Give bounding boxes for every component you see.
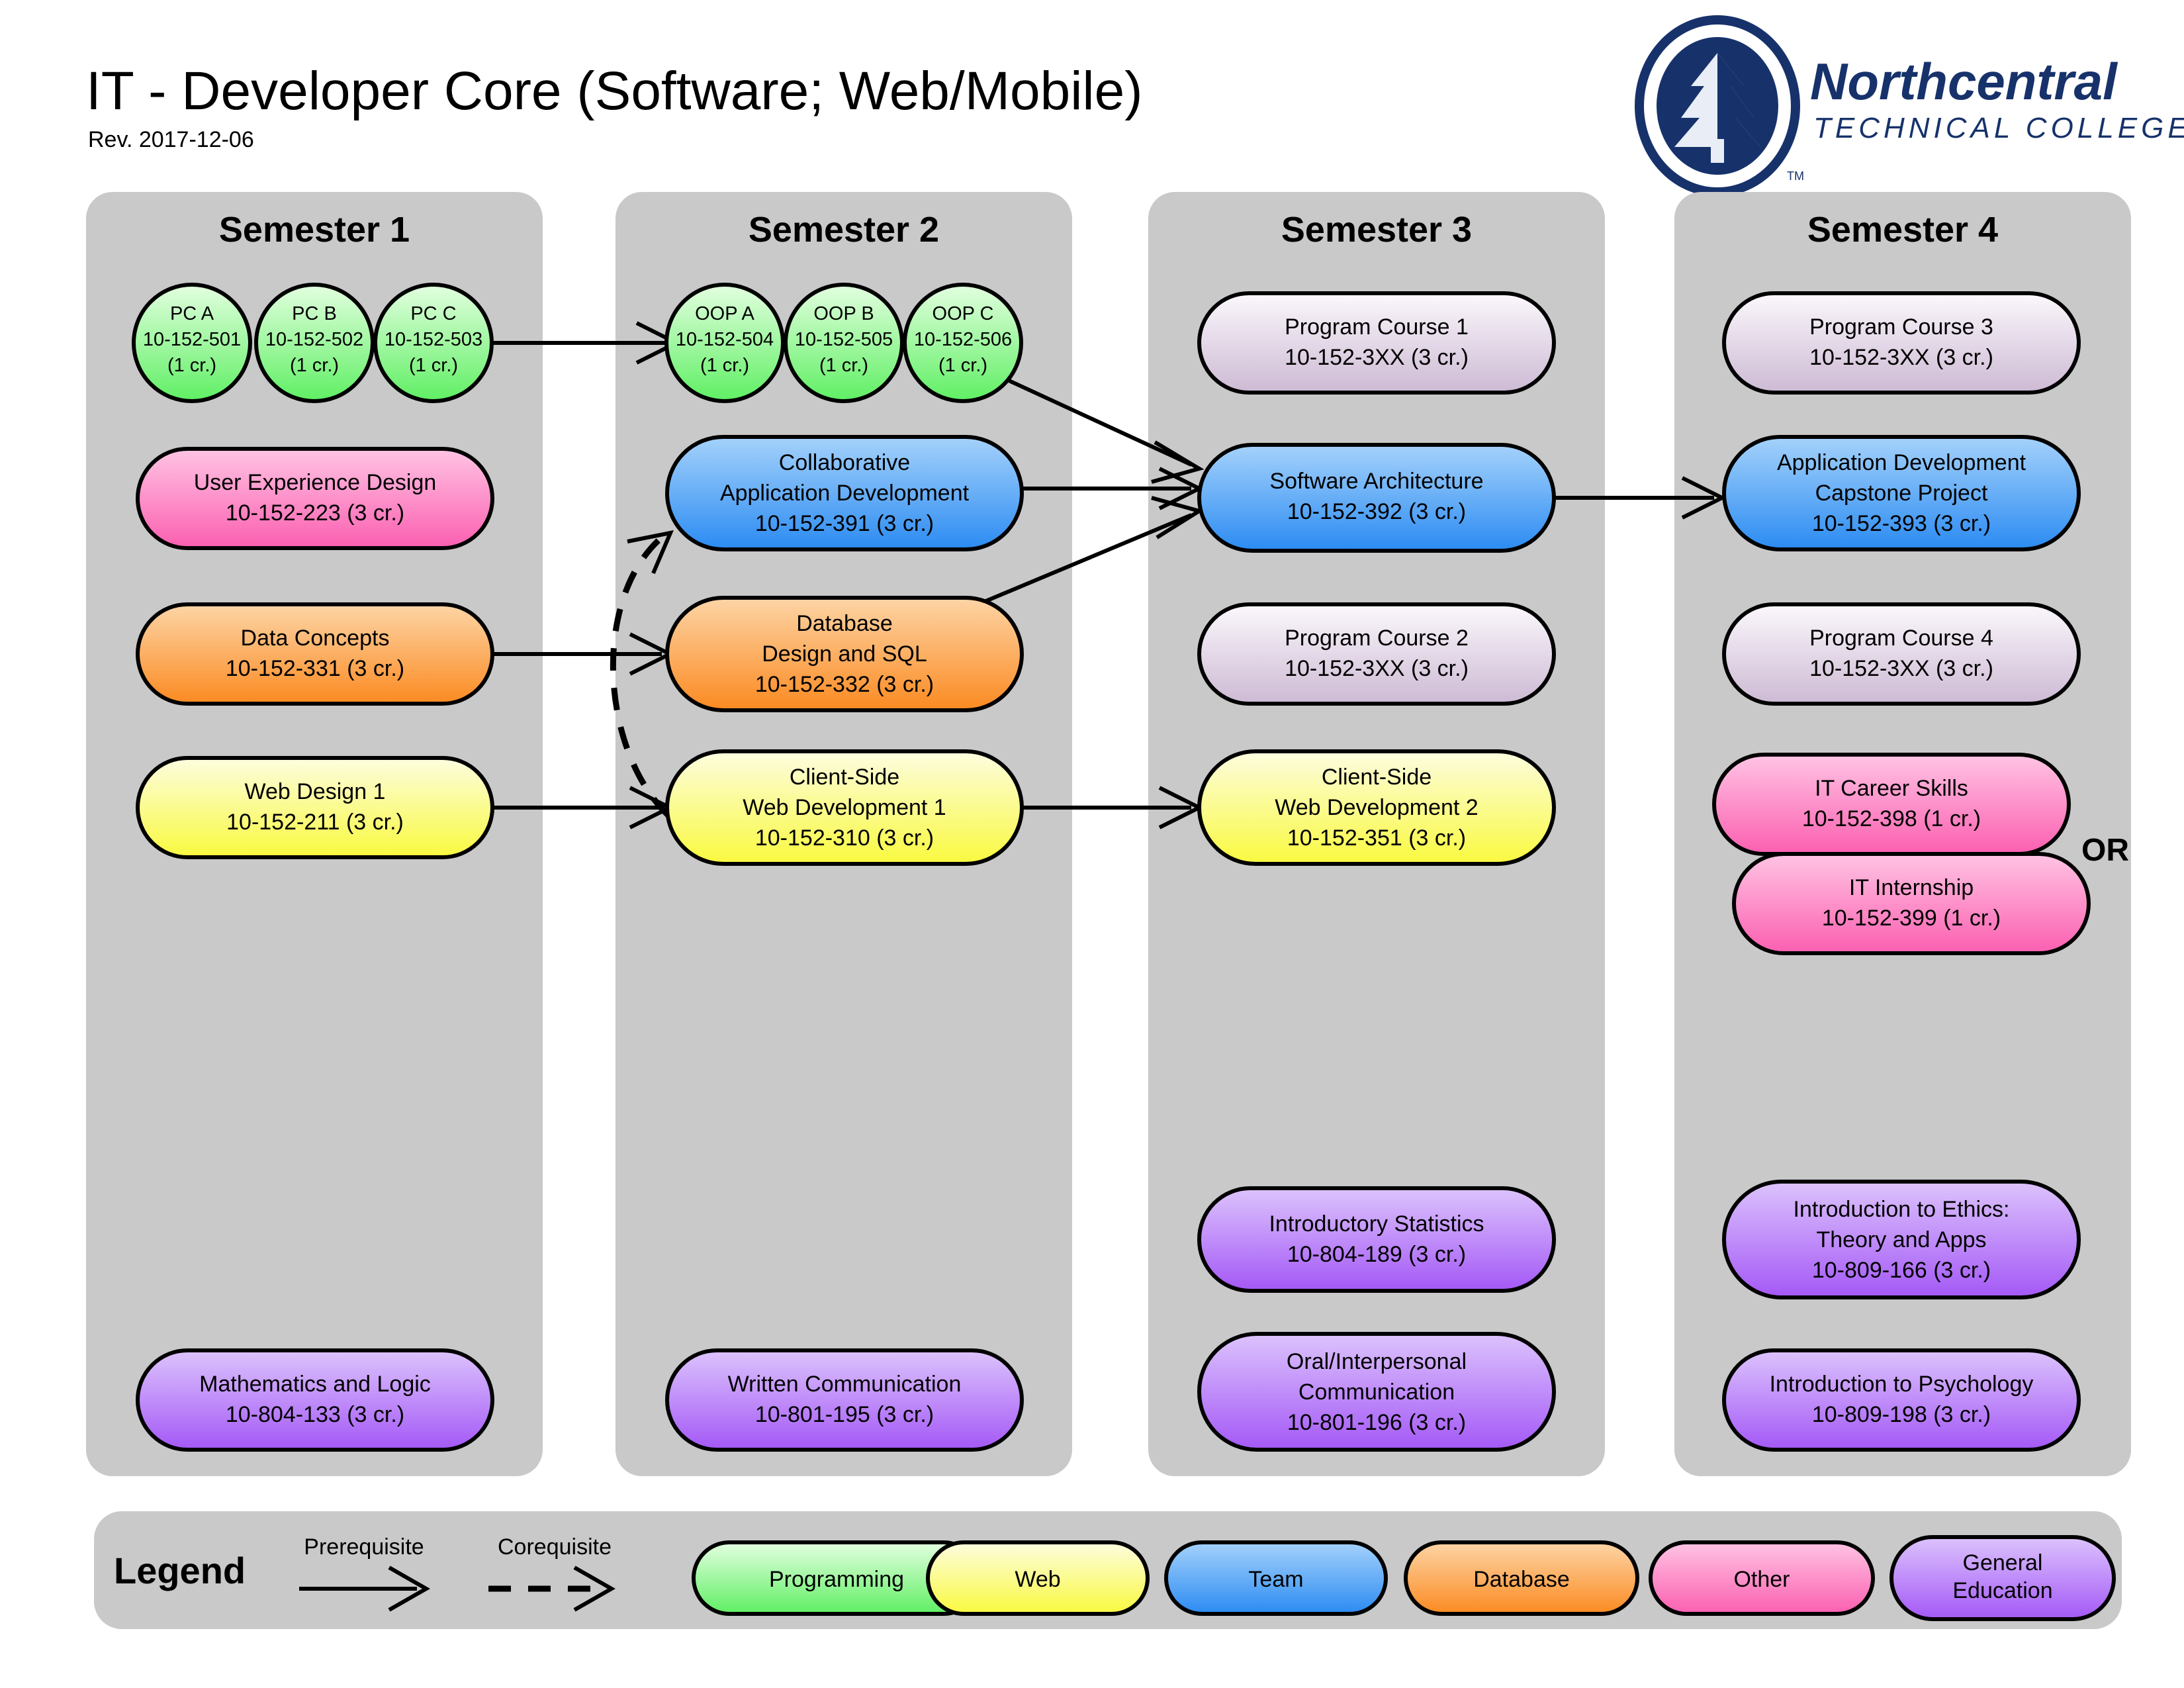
node-program-course-3[interactable]: Program Course 3 10-152-3XX (3 cr.) <box>1724 293 2079 393</box>
node-mathlog-line2: 10-804-133 (3 cr.) <box>226 1402 404 1427</box>
node-application-development-capstone-project[interactable]: Application Development Capstone Project… <box>1724 437 2079 549</box>
node-progc4-line1: Program Course 4 <box>1809 626 1993 651</box>
node-webdes1-line2: 10-152-211 (3 cr.) <box>226 810 404 835</box>
node-it-internship[interactable]: IT Internship 10-152-399 (1 cr.) <box>1734 854 2089 953</box>
legend-chip-team[interactable]: Team <box>1166 1542 1386 1614</box>
node-pc-c-line3: (1 cr.) <box>409 355 458 376</box>
node-data-concepts[interactable]: Data Concepts 10-152-331 (3 cr.) <box>138 604 492 704</box>
node-cswd2-line2: Web Development 2 <box>1275 795 1478 820</box>
node-it-career-skills[interactable]: IT Career Skills 10-152-398 (1 cr.) <box>1714 755 2069 854</box>
node-oralcomm-line2: Communication <box>1298 1380 1455 1405</box>
node-written-communication[interactable]: Written Communication 10-801-195 (3 cr.) <box>667 1350 1022 1450</box>
node-pc-b-line1: PC B <box>292 303 337 324</box>
node-ethics-line1: Introduction to Ethics: <box>1794 1197 2010 1222</box>
node-oop-b-line1: OOP B <box>813 303 874 324</box>
node-psych-line1: Introduction to Psychology <box>1770 1372 2034 1397</box>
diagram-root: IT - Developer Core (Software; Web/Mobil… <box>0 0 2184 1688</box>
node-oralcomm-line1: Oral/Interpersonal <box>1287 1349 1467 1374</box>
node-oop-b[interactable]: OOP B 10-152-505 (1 cr.) <box>786 285 902 401</box>
node-client-side-web-development-1[interactable]: Client-Side Web Development 1 10-152-310… <box>667 751 1022 864</box>
revision-label: Rev. 2017-12-06 <box>88 127 254 152</box>
node-progc3-line1: Program Course 3 <box>1809 314 1993 340</box>
node-oop-a-line2: 10-152-504 <box>676 329 774 350</box>
node-datacon-line2: 10-152-331 (3 cr.) <box>226 656 404 681</box>
or-label: OR <box>2081 833 2129 868</box>
node-pc-c[interactable]: PC C 10-152-503 (1 cr.) <box>375 285 492 401</box>
node-progc4-line2: 10-152-3XX (3 cr.) <box>1809 656 1993 681</box>
legend-chip-web[interactable]: Web <box>928 1542 1148 1614</box>
column-title-semester-2: Semester 2 <box>749 210 939 250</box>
node-oop-b-line2: 10-152-505 <box>795 329 893 350</box>
node-webdes1-line1: Web Design 1 <box>245 779 386 804</box>
node-software-architecture[interactable]: Software Architecture 10-152-392 (3 cr.) <box>1199 445 1554 551</box>
node-pc-b[interactable]: PC B 10-152-502 (1 cr.) <box>256 285 373 401</box>
node-collabapp-line3: 10-152-391 (3 cr.) <box>755 511 934 536</box>
legend-chip-other[interactable]: Other <box>1651 1542 1873 1614</box>
node-introstat-line2: 10-804-189 (3 cr.) <box>1287 1242 1466 1267</box>
node-program-course-2[interactable]: Program Course 2 10-152-3XX (3 cr.) <box>1199 604 1554 704</box>
node-program-course-4[interactable]: Program Course 4 10-152-3XX (3 cr.) <box>1724 604 2079 704</box>
node-oral-interpersonal-communication[interactable]: Oral/Interpersonal Communication 10-801-… <box>1199 1334 1554 1450</box>
node-introstat-line1: Introductory Statistics <box>1269 1211 1484 1237</box>
logo-tm-mark: TM <box>1787 169 1804 183</box>
node-cswd2-line1: Client-Side <box>1322 765 1432 790</box>
node-dbsql-line1: Database <box>796 611 893 636</box>
node-oop-c[interactable]: OOP C 10-152-506 (1 cr.) <box>905 285 1021 401</box>
column-title-semester-1: Semester 1 <box>219 210 410 250</box>
node-oop-c-line2: 10-152-506 <box>914 329 1012 350</box>
node-client-side-web-development-2[interactable]: Client-Side Web Development 2 10-152-351… <box>1199 751 1554 864</box>
node-dbsql-line3: 10-152-332 (3 cr.) <box>755 672 934 697</box>
node-oop-a-line1: OOP A <box>695 303 754 324</box>
node-program-course-1[interactable]: Program Course 1 10-152-3XX (3 cr.) <box>1199 293 1554 393</box>
logo-wordmark: Northcentral <box>1810 52 2118 111</box>
page-title: IT - Developer Core (Software; Web/Mobil… <box>86 61 1143 121</box>
node-cswd2-line3: 10-152-351 (3 cr.) <box>1287 825 1466 851</box>
node-oralcomm-line3: 10-801-196 (3 cr.) <box>1287 1410 1466 1435</box>
node-datacon-line1: Data Concepts <box>241 626 390 651</box>
node-oop-b-line3: (1 cr.) <box>819 355 868 376</box>
node-psych-line2: 10-809-198 (3 cr.) <box>1812 1402 1991 1427</box>
node-swarch-line1: Software Architecture <box>1269 469 1483 494</box>
node-intern-line2: 10-152-399 (1 cr.) <box>1822 906 2001 931</box>
legend-corequisite-label: Corequisite <box>498 1534 612 1560</box>
logo-subtitle: TECHNICAL COLLEGE <box>1813 112 2184 144</box>
legend-chip-web-label: Web <box>1015 1567 1060 1592</box>
node-pc-a-line1: PC A <box>170 303 214 324</box>
node-uxd-line2: 10-152-223 (3 cr.) <box>226 500 404 526</box>
node-user-experience-design[interactable]: User Experience Design 10-152-223 (3 cr.… <box>138 449 492 548</box>
node-progc3-line2: 10-152-3XX (3 cr.) <box>1809 345 1993 370</box>
node-ethics-line3: 10-809-166 (3 cr.) <box>1812 1258 1991 1283</box>
node-mathlog-line1: Mathematics and Logic <box>199 1372 431 1397</box>
node-cswd1-line3: 10-152-310 (3 cr.) <box>755 825 934 851</box>
node-pc-b-line2: 10-152-502 <box>265 329 363 350</box>
legend-chip-general-education-label2: Education <box>1952 1578 2052 1603</box>
node-introductory-statistics[interactable]: Introductory Statistics 10-804-189 (3 cr… <box>1199 1188 1554 1291</box>
node-pc-c-line1: PC C <box>410 303 456 324</box>
node-database-design-and-sql[interactable]: Database Design and SQL 10-152-332 (3 cr… <box>667 598 1022 710</box>
node-uxd-line1: User Experience Design <box>194 470 437 495</box>
node-pc-a[interactable]: PC A 10-152-501 (1 cr.) <box>134 285 250 401</box>
northcentral-logo: Northcentral TECHNICAL COLLEGE TM <box>1639 20 2184 192</box>
node-capstone-line1: Application Development <box>1777 450 2026 475</box>
node-dbsql-line2: Design and SQL <box>762 641 927 667</box>
legend-chip-general-education-label: General <box>1963 1550 2043 1575</box>
node-oop-c-line1: OOP C <box>933 303 994 324</box>
legend-prerequisite-label: Prerequisite <box>304 1534 424 1560</box>
column-title-semester-4: Semester 4 <box>1807 210 1998 250</box>
node-collaborative-application-development[interactable]: Collaborative Application Development 10… <box>667 437 1022 549</box>
legend-chip-other-label: Other <box>1733 1567 1790 1592</box>
node-introduction-to-psychology[interactable]: Introduction to Psychology 10-809-198 (3… <box>1724 1350 2079 1450</box>
pine-tree-emblem-icon <box>1639 20 1796 192</box>
node-progc2-line2: 10-152-3XX (3 cr.) <box>1285 656 1469 681</box>
node-capstone-line2: Capstone Project <box>1815 481 1988 506</box>
legend-chip-programming-label: Programming <box>769 1567 904 1592</box>
node-ethics-line2: Theory and Apps <box>1816 1227 1986 1252</box>
node-wrcomm-line1: Written Communication <box>728 1372 962 1397</box>
node-progc1-line1: Program Course 1 <box>1285 314 1469 340</box>
node-collabapp-line2: Application Development <box>720 481 970 506</box>
node-capstone-line3: 10-152-393 (3 cr.) <box>1812 511 1991 536</box>
legend-title: Legend <box>114 1550 246 1591</box>
node-career-line1: IT Career Skills <box>1815 776 1968 801</box>
node-career-line2: 10-152-398 (1 cr.) <box>1802 806 1981 831</box>
node-oop-c-line3: (1 cr.) <box>938 355 987 376</box>
legend-chip-database-label: Database <box>1473 1567 1570 1592</box>
node-oop-a-line3: (1 cr.) <box>700 355 749 376</box>
legend-chip-team-label: Team <box>1248 1567 1303 1592</box>
node-oop-a[interactable]: OOP A 10-152-504 (1 cr.) <box>666 285 783 401</box>
node-pc-a-line3: (1 cr.) <box>167 355 216 376</box>
node-collabapp-line1: Collaborative <box>779 450 910 475</box>
node-progc1-line2: 10-152-3XX (3 cr.) <box>1285 345 1469 370</box>
node-cswd1-line1: Client-Side <box>790 765 899 790</box>
node-web-design-1[interactable]: Web Design 1 10-152-211 (3 cr.) <box>138 758 492 857</box>
node-cswd1-line2: Web Development 1 <box>743 795 946 820</box>
curriculum-flowchart: IT - Developer Core (Software; Web/Mobil… <box>0 0 2184 1688</box>
node-intern-line1: IT Internship <box>1849 875 1974 900</box>
legend-chip-database[interactable]: Database <box>1406 1542 1637 1614</box>
node-pc-a-line2: 10-152-501 <box>143 329 241 350</box>
legend-chip-general-education[interactable]: General Education <box>1891 1537 2114 1619</box>
column-title-semester-3: Semester 3 <box>1281 210 1472 250</box>
node-pc-c-line2: 10-152-503 <box>385 329 482 350</box>
node-swarch-line2: 10-152-392 (3 cr.) <box>1287 499 1466 524</box>
node-introduction-to-ethics[interactable]: Introduction to Ethics: Theory and Apps … <box>1724 1182 2079 1297</box>
node-pc-b-line3: (1 cr.) <box>290 355 339 376</box>
node-progc2-line1: Program Course 2 <box>1285 626 1469 651</box>
node-wrcomm-line2: 10-801-195 (3 cr.) <box>755 1402 934 1427</box>
node-mathematics-and-logic[interactable]: Mathematics and Logic 10-804-133 (3 cr.) <box>138 1350 492 1450</box>
